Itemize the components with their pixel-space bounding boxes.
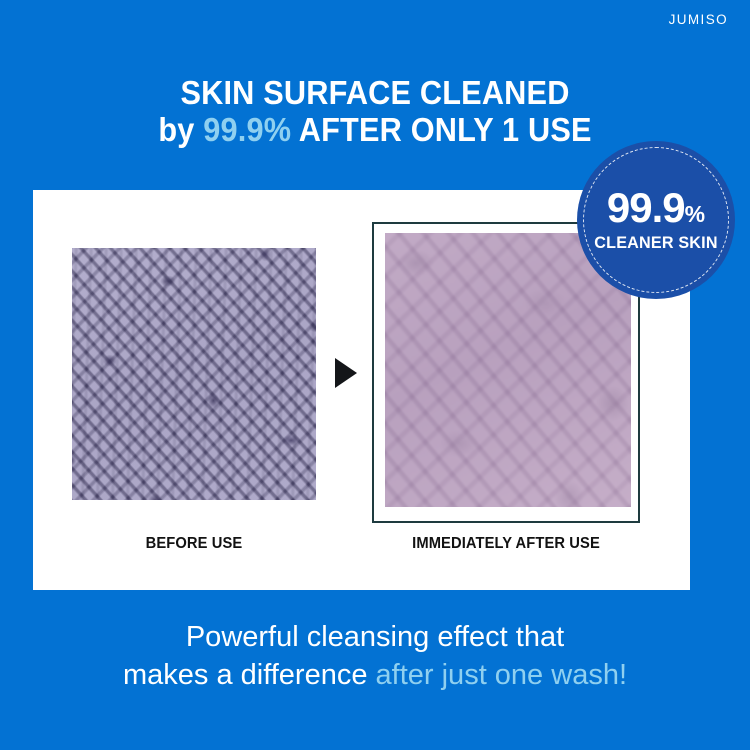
before-skin-texture — [72, 248, 316, 500]
tagline-line-1: Powerful cleansing effect that — [0, 618, 750, 656]
tagline-accent: after just one wash! — [376, 659, 627, 691]
tagline-line-2-prefix: makes a difference — [123, 659, 376, 691]
tagline: Powerful cleansing effect that makes a d… — [0, 618, 750, 694]
badge-value: 99.9% — [577, 187, 735, 235]
after-image — [385, 233, 631, 507]
before-caption: BEFORE USE — [41, 535, 347, 553]
infographic-root: JUMISO SKIN SURFACE CLEANED by 99.9% AFT… — [0, 0, 750, 750]
headline-line-1: SKIN SURFACE CLEANED — [26, 74, 724, 111]
badge-number: 99.9 — [607, 184, 685, 231]
headline-line-2: by 99.9% AFTER ONLY 1 USE — [26, 111, 724, 148]
cleaner-skin-badge: 99.9% CLEANER SKIN — [577, 141, 735, 299]
headline-line-2-prefix: by — [158, 111, 203, 148]
brand-logo: JUMISO — [669, 12, 728, 27]
after-caption: IMMEDIATELY AFTER USE — [379, 535, 634, 553]
play-triangle-icon — [335, 358, 357, 388]
before-image — [72, 248, 316, 500]
after-skin-texture — [385, 233, 631, 507]
headline-percent-accent: 99.9% — [203, 111, 291, 148]
badge-percent-sign: % — [685, 201, 705, 227]
badge-subtitle: CLEANER SKIN — [581, 233, 731, 253]
headline: SKIN SURFACE CLEANED by 99.9% AFTER ONLY… — [26, 74, 724, 148]
headline-line-2-suffix: AFTER ONLY 1 USE — [291, 111, 591, 148]
tagline-line-2: makes a difference after just one wash! — [0, 656, 750, 694]
